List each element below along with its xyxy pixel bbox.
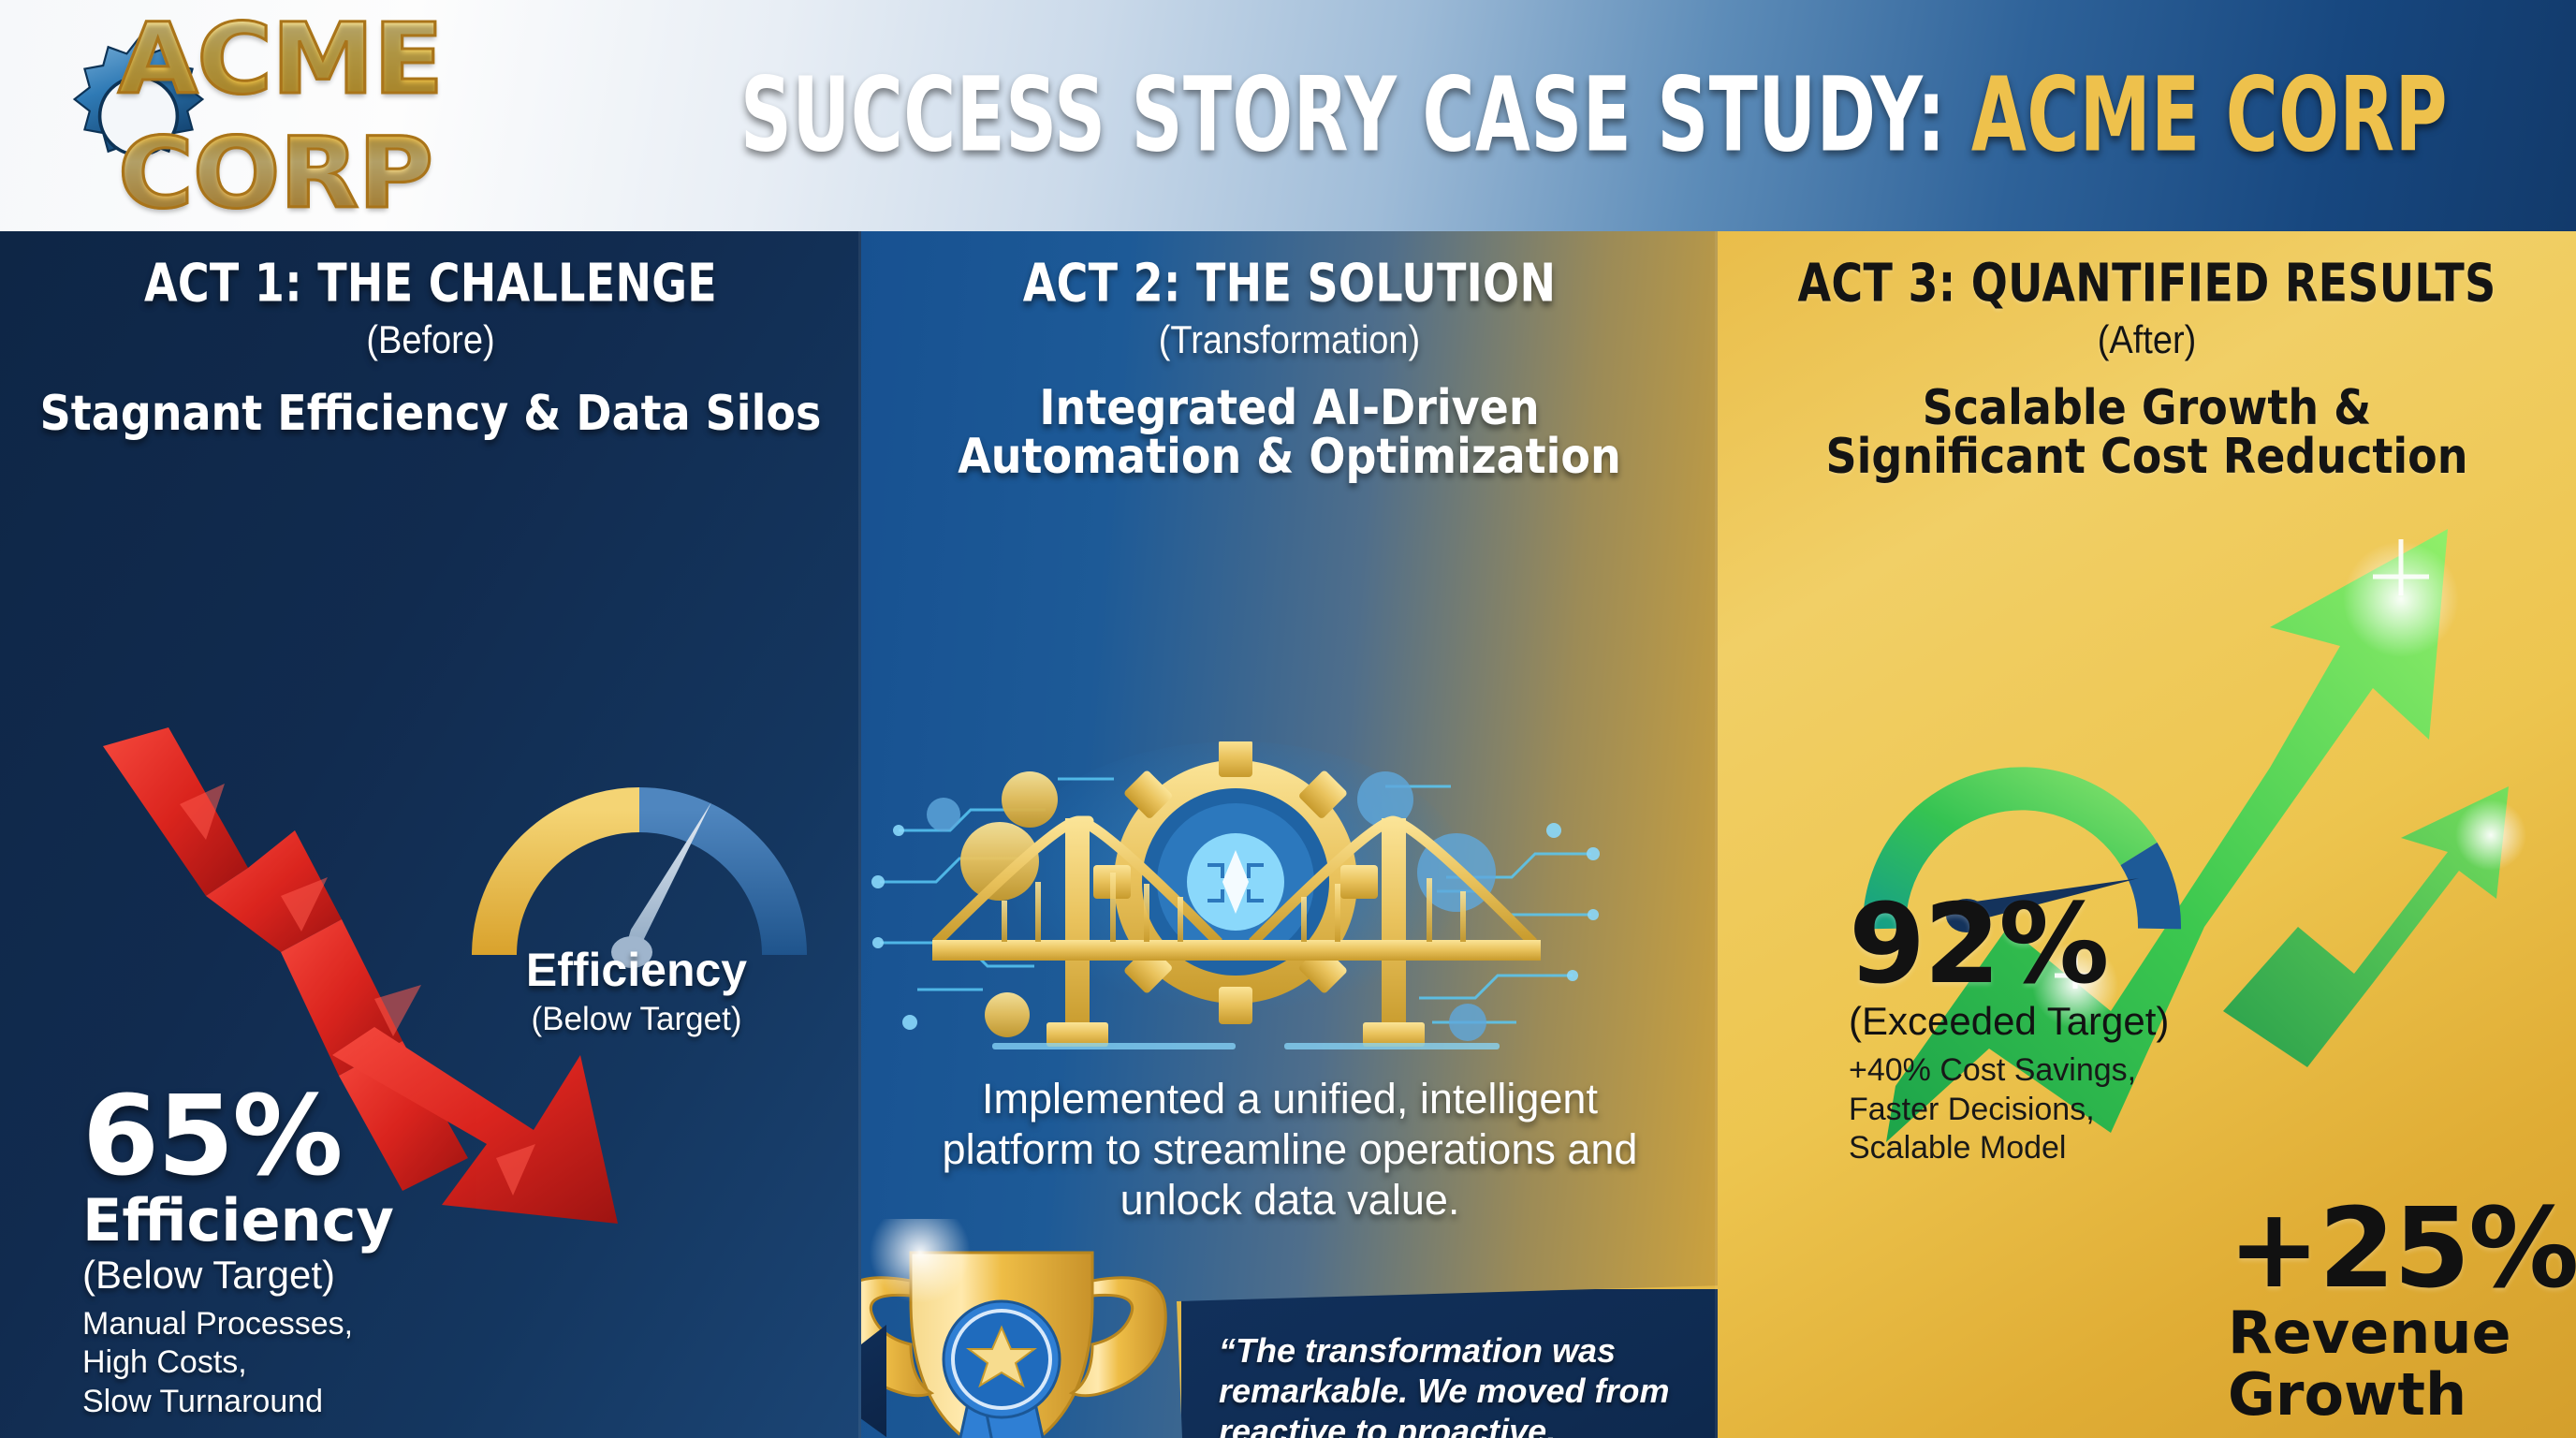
act3-stat-block: 92% (Exceeded Target) +40% Cost Savings,…	[1849, 891, 2169, 1168]
act3-bullet-2: Faster Decisions,	[1849, 1091, 2169, 1129]
ai-bridge-gears-icon	[861, 741, 1610, 1055]
act3-stat-value: 92%	[1849, 891, 2169, 997]
panel-act1: ACT 1: THE CHALLENGE (Before) Stagnant E…	[0, 231, 861, 1438]
act2-title: ACT 2: THE SOLUTION	[861, 252, 1718, 314]
act1-stat-label: Efficiency	[82, 1191, 394, 1250]
act3-bullet-1: +40% Cost Savings,	[1849, 1051, 2169, 1090]
panel-act2: ACT 2: THE SOLUTION (Transformation) Int…	[861, 231, 1718, 1438]
act1-tagline: Stagnant Efficiency & Data Silos	[0, 386, 861, 441]
page-title-accent: ACME CORP	[1971, 56, 2448, 175]
page-title: SUCCESS STORY CASE STUDY: ACME CORP	[740, 56, 2448, 175]
quote-text: “The transformation was remarkable. We m…	[1219, 1330, 1702, 1438]
gauge-note: (Below Target)	[412, 1001, 861, 1038]
gauge-icon	[466, 782, 812, 969]
act1-stat-block: 65% Efficiency (Below Target) Manual Pro…	[82, 1083, 394, 1421]
act1-bullet-1: Manual Processes,	[82, 1305, 394, 1343]
act3-tagline-2: Significant Cost Reduction	[1718, 429, 2576, 484]
header-bar: ACME CORP SUCCESS STORY CASE STUDY: ACME…	[0, 0, 2576, 231]
page-title-main: SUCCESS STORY CASE STUDY:	[740, 56, 1946, 175]
brand-logo-text: ACME CORP	[118, 2, 716, 230]
act1-title: ACT 1: THE CHALLENGE	[0, 252, 861, 314]
act3-secondary-stat-block: +25% Revenue Growth (YoY)	[2228, 1196, 2576, 1438]
act1-bullet-2: High Costs,	[82, 1343, 394, 1382]
act1-stat-value: 65%	[82, 1083, 394, 1189]
act3-title: ACT 3: QUANTIFIED RESULTS	[1718, 252, 2576, 314]
infographic-root: ACME CORP SUCCESS STORY CASE STUDY: ACME…	[0, 0, 2576, 1438]
act3-bullet-3: Scalable Model	[1849, 1129, 2169, 1167]
act3-subtitle: (After)	[1718, 319, 2576, 363]
panels-container: ACT 1: THE CHALLENGE (Before) Stagnant E…	[0, 231, 2576, 1438]
act1-stat-note: (Below Target)	[82, 1255, 394, 1296]
trophy-icon	[861, 1219, 1203, 1438]
act3-secondary-label-2-text: Growth	[2228, 1360, 2466, 1429]
quote-tail	[861, 1325, 886, 1437]
act2-tagline-2: Automation & Optimization	[861, 429, 1718, 484]
panel-act3: ACT 3: QUANTIFIED RESULTS (After) Scalab…	[1718, 231, 2576, 1438]
brand-logo: ACME CORP	[54, 27, 682, 205]
act2-paragraph: Implemented a unified, intelligent platf…	[915, 1074, 1664, 1225]
act2-subtitle: (Transformation)	[861, 319, 1718, 363]
act1-subtitle: (Before)	[0, 319, 861, 363]
act3-secondary-value: +25%	[2228, 1196, 2576, 1301]
testimonial-quote-box: “The transformation was remarkable. We m…	[1177, 1284, 1718, 1438]
act3-secondary-label-2: Growth (YoY)	[2228, 1365, 2576, 1438]
gauge-label-group: Efficiency (Below Target)	[412, 943, 861, 1038]
act1-bullet-3: Slow Turnaround	[82, 1383, 394, 1421]
act3-stat-note: (Exceeded Target)	[1849, 1001, 2169, 1042]
act1-stat-bullets: Manual Processes, High Costs, Slow Turna…	[82, 1305, 394, 1421]
gauge-label: Efficiency	[412, 943, 861, 997]
act3-stat-bullets: +40% Cost Savings, Faster Decisions, Sca…	[1849, 1051, 2169, 1167]
